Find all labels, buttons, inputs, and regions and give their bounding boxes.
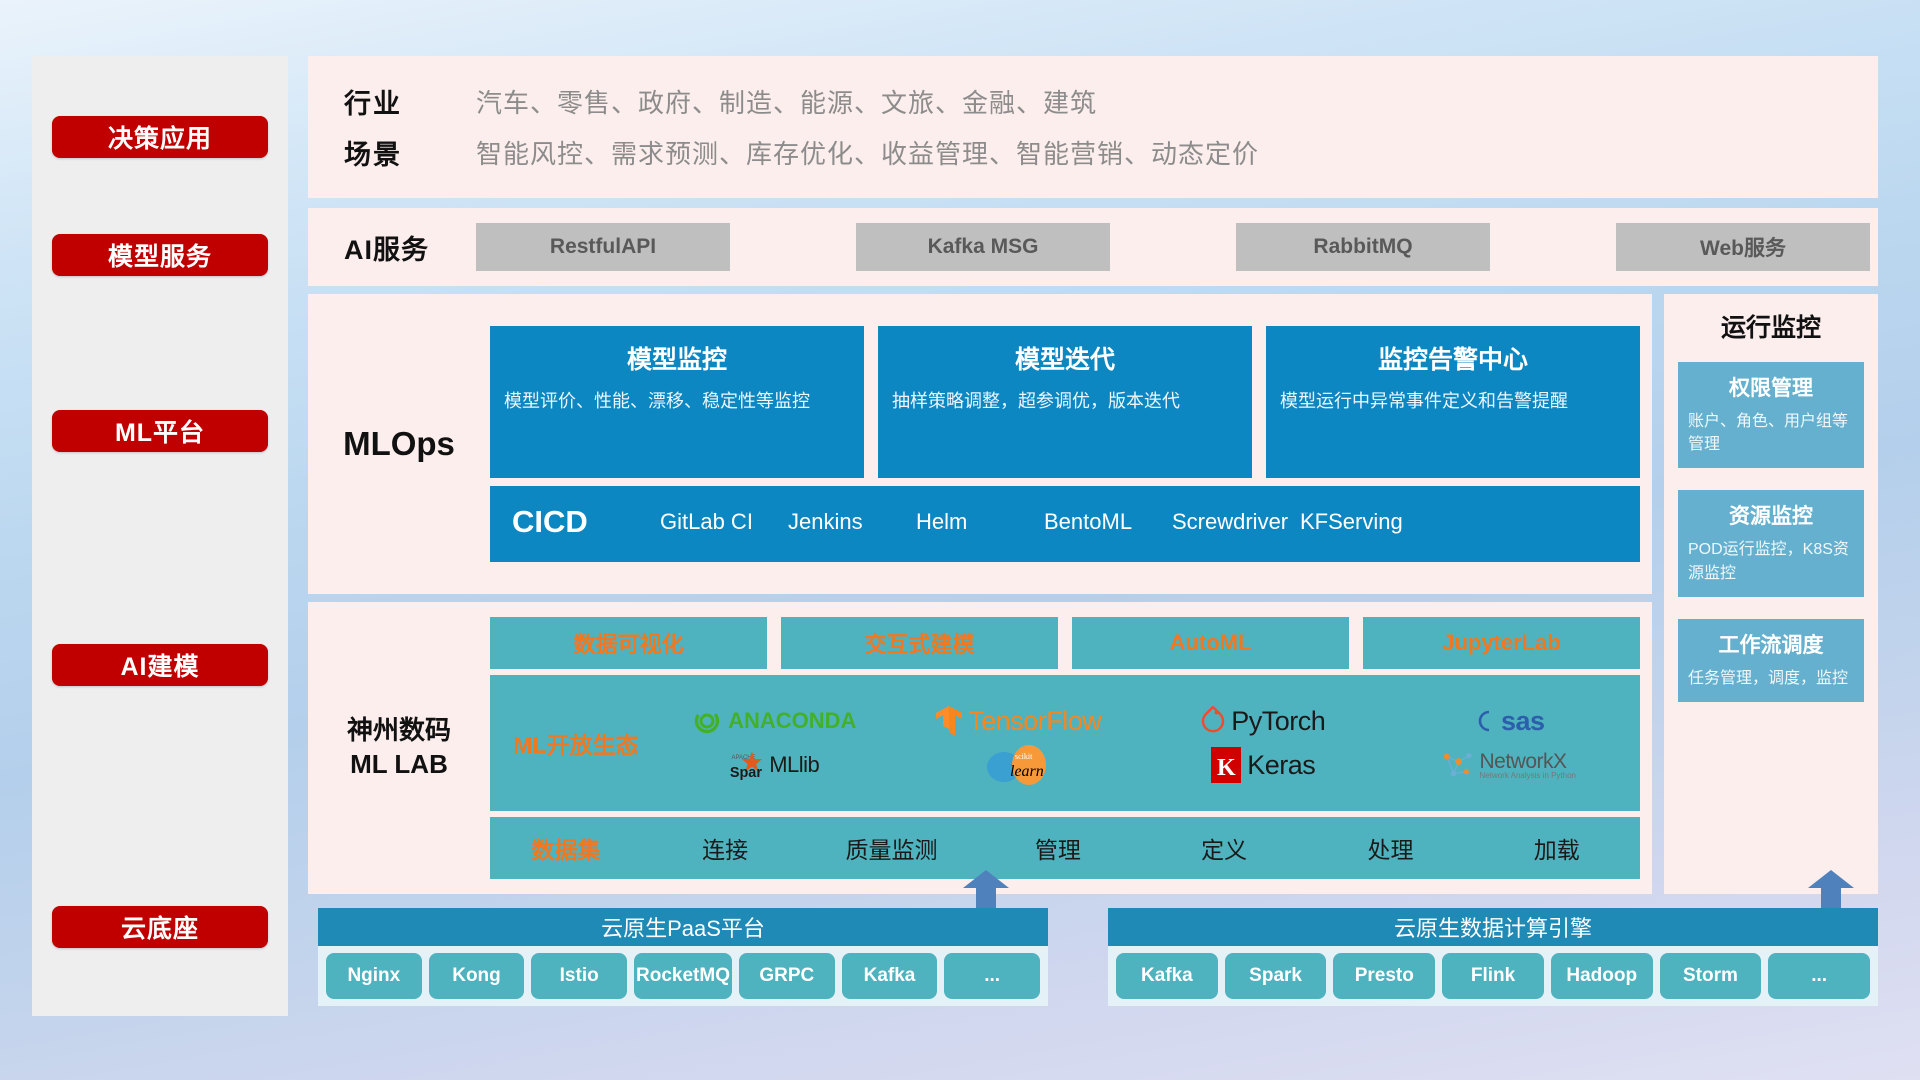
mlops-cards: 模型监控 模型评价、性能、漂移、稳定性等监控 模型迭代 抽样策略调整，超参调优，…: [490, 326, 1640, 478]
keras-icon: K: [1211, 747, 1241, 783]
decision-apps-band: 行业 汽车、零售、政府、制造、能源、文旅、金融、建筑 场景 智能风控、需求预测、…: [308, 56, 1878, 198]
rail-item-label: 云底座: [121, 909, 199, 945]
dataset-items: 连接 质量监测 管理 定义 处理 加载: [642, 831, 1640, 865]
chip-storm[interactable]: Storm: [1660, 953, 1762, 999]
ai-service-rabbitmq[interactable]: RabbitMQ: [1236, 223, 1490, 271]
mlops-card-alert-center[interactable]: 监控告警中心 模型运行中异常事件定义和告警提醒: [1266, 326, 1640, 478]
svg-text:Spark: Spark: [730, 765, 763, 781]
ai-service-restfulapi[interactable]: RestfulAPI: [476, 223, 730, 271]
ml-lab-content: 数据可视化 交互式建模 AutoML JupyterLab ML开放生态 ANA…: [490, 617, 1652, 879]
chip-kafka[interactable]: Kafka: [842, 953, 938, 999]
pytorch-logo: PyTorch: [1201, 706, 1325, 737]
keras-logo-text: Keras: [1247, 750, 1315, 781]
rail-item-cloud-base[interactable]: 云底座: [52, 906, 268, 948]
card-desc: POD运行监控，K8S资源监控: [1688, 538, 1854, 584]
dataset-item-process[interactable]: 处理: [1307, 831, 1473, 865]
chip-nginx[interactable]: Nginx: [326, 953, 422, 999]
ai-service-kafka-msg[interactable]: Kafka MSG: [856, 223, 1110, 271]
monitor-card-workflow[interactable]: 工作流调度 任务管理，调度，监控: [1678, 619, 1864, 702]
chip-rocketmq[interactable]: RocketMQ: [634, 953, 732, 999]
chip-spark[interactable]: Spark: [1225, 953, 1327, 999]
chip-more[interactable]: ...: [1768, 953, 1870, 999]
scenario-value: 智能风控、需求预测、库存优化、收益管理、智能营销、动态定价: [476, 134, 1259, 171]
networkx-logo-text: NetworkX: [1480, 751, 1577, 772]
monitor-card-resource[interactable]: 资源监控 POD运行监控，K8S资源监控: [1678, 490, 1864, 596]
card-title: 监控告警中心: [1280, 340, 1626, 376]
networkx-icon: [1440, 748, 1474, 782]
rail-item-label: 决策应用: [108, 119, 212, 155]
dataset-label: 数据集: [490, 831, 642, 865]
rail-item-ml-platform[interactable]: ML平台: [52, 410, 268, 452]
scenario-row: 场景 智能风控、需求预测、库存优化、收益管理、智能营销、动态定价: [344, 133, 1878, 172]
mlops-card-model-monitoring[interactable]: 模型监控 模型评价、性能、漂移、稳定性等监控: [490, 326, 864, 478]
chip-presto[interactable]: Presto: [1333, 953, 1435, 999]
scenario-key: 场景: [344, 133, 476, 172]
cloud-native-paas-title: 云原生PaaS平台: [318, 908, 1048, 946]
card-desc: 任务管理，调度，监控: [1688, 667, 1854, 690]
cicd-item-gitlab-ci[interactable]: GitLab CI: [660, 507, 788, 537]
pytorch-logo-text: PyTorch: [1231, 706, 1325, 737]
cloud-base-section: 云原生PaaS平台 Nginx Kong Istio RocketMQ GRPC…: [308, 888, 1878, 1048]
runtime-monitor-title: 运行监控: [1678, 308, 1864, 344]
chip-istio[interactable]: Istio: [531, 953, 627, 999]
keras-logo: K Keras: [1211, 747, 1315, 783]
chip-hadoop[interactable]: Hadoop: [1551, 953, 1653, 999]
spark-mllib-logo-text: MLlib: [769, 752, 819, 778]
chip-grpc[interactable]: GRPC: [739, 953, 835, 999]
chip-kafka[interactable]: Kafka: [1116, 953, 1218, 999]
ml-open-ecosystem-row: ML开放生态 ANACONDA Tens: [490, 675, 1640, 811]
tensorflow-icon: [936, 705, 962, 737]
card-title: 权限管理: [1688, 372, 1854, 402]
tab-jupyterlab[interactable]: JupyterLab: [1363, 617, 1640, 669]
rail-item-label: ML平台: [115, 413, 205, 449]
tensorflow-logo: TensorFlow: [936, 705, 1101, 737]
tab-interactive-modeling[interactable]: 交互式建模: [781, 617, 1058, 669]
cicd-item-helm[interactable]: Helm: [916, 507, 1044, 537]
anaconda-logo-text: ANACONDA: [728, 708, 856, 734]
scikit-learn-icon: scikit learn: [982, 743, 1056, 787]
cicd-item-kfserving[interactable]: KFServing: [1300, 507, 1428, 537]
card-desc: 抽样策略调整，超参调优，版本迭代: [892, 388, 1238, 414]
mlops-band: MLOps 模型监控 模型评价、性能、漂移、稳定性等监控 模型迭代 抽样策略调整…: [308, 294, 1652, 594]
ai-service-items: RestfulAPI Kafka MSG RabbitMQ Web服务: [476, 223, 1878, 271]
ml-lab-key: 神州数码 ML LAB: [308, 714, 490, 782]
cloud-native-paas-block: 云原生PaaS平台 Nginx Kong Istio RocketMQ GRPC…: [318, 908, 1048, 1006]
card-desc: 模型运行中异常事件定义和告警提醒: [1280, 388, 1626, 414]
ai-service-web[interactable]: Web服务: [1616, 223, 1870, 271]
cicd-bar: CICD GitLab CI Jenkins Helm BentoML Scre…: [490, 486, 1640, 562]
cicd-title: CICD: [512, 504, 660, 540]
sas-logo-text: sas: [1501, 706, 1545, 737]
dataset-item-quality-monitor[interactable]: 质量监测: [808, 831, 974, 865]
card-title: 模型监控: [504, 340, 850, 376]
ml-lab-band: 神州数码 ML LAB 数据可视化 交互式建模 AutoML JupyterLa…: [308, 602, 1652, 894]
layer-rail: 决策应用 模型服务 ML平台 AI建模 云底座: [32, 56, 288, 1016]
ml-lab-key-line2: ML LAB: [308, 748, 490, 782]
ml-open-ecosystem-label: ML开放生态: [500, 726, 652, 760]
cloud-native-paas-chips: Nginx Kong Istio RocketMQ GRPC Kafka ...: [318, 946, 1048, 1006]
tab-data-visualization[interactable]: 数据可视化: [490, 617, 767, 669]
dataset-item-connect[interactable]: 连接: [642, 831, 808, 865]
rail-item-decision-apps[interactable]: 决策应用: [52, 116, 268, 158]
cicd-item-bentoml[interactable]: BentoML: [1044, 507, 1172, 537]
anaconda-icon: [692, 706, 722, 736]
dataset-row: 数据集 连接 质量监测 管理 定义 处理 加载: [490, 817, 1640, 879]
rail-item-label: AI建模: [120, 647, 199, 683]
card-title: 工作流调度: [1688, 629, 1854, 659]
cloud-native-compute-chips: Kafka Spark Presto Flink Hadoop Storm ..…: [1108, 946, 1878, 1006]
spark-mllib-logo: APACHE Spark MLlib: [729, 748, 819, 782]
mlops-card-model-iteration[interactable]: 模型迭代 抽样策略调整，超参调优，版本迭代: [878, 326, 1252, 478]
card-desc: 账户、角色、用户组等管理: [1688, 410, 1854, 456]
cloud-native-compute-block: 云原生数据计算引擎 Kafka Spark Presto Flink Hadoo…: [1108, 908, 1878, 1006]
ecosystem-logos: ANACONDA TensorFlow: [652, 699, 1630, 787]
card-title: 资源监控: [1688, 500, 1854, 530]
industry-key: 行业: [344, 82, 476, 121]
industry-row: 行业 汽车、零售、政府、制造、能源、文旅、金融、建筑: [344, 82, 1878, 121]
card-desc: 模型评价、性能、漂移、稳定性等监控: [504, 388, 850, 414]
card-title: 模型迭代: [892, 340, 1238, 376]
networkx-tagline: Network Analysis in Python: [1480, 772, 1577, 780]
architecture-main: 行业 汽车、零售、政府、制造、能源、文旅、金融、建筑 场景 智能风控、需求预测、…: [308, 56, 1878, 1016]
chip-kong[interactable]: Kong: [429, 953, 525, 999]
mlops-key: MLOps: [308, 425, 490, 463]
rail-item-model-service[interactable]: 模型服务: [52, 234, 268, 276]
dataset-item-define[interactable]: 定义: [1141, 831, 1307, 865]
sas-logo: sas: [1471, 706, 1545, 737]
industry-value: 汽车、零售、政府、制造、能源、文旅、金融、建筑: [476, 83, 1097, 120]
chip-flink[interactable]: Flink: [1442, 953, 1544, 999]
anaconda-logo: ANACONDA: [692, 706, 856, 736]
svg-text:learn: learn: [1010, 763, 1044, 780]
spark-icon: APACHE Spark: [729, 748, 763, 782]
cicd-item-screwdriver[interactable]: Screwdriver: [1172, 507, 1300, 537]
ai-service-band: AI服务 RestfulAPI Kafka MSG RabbitMQ Web服务: [308, 208, 1878, 286]
tab-automl[interactable]: AutoML: [1072, 617, 1349, 669]
runtime-monitor-band: 运行监控 权限管理 账户、角色、用户组等管理 资源监控 POD运行监控，K8S资…: [1664, 294, 1878, 894]
sas-icon: [1471, 707, 1495, 735]
ml-lab-key-line1: 神州数码: [308, 714, 490, 748]
svg-text:scikit: scikit: [1015, 752, 1033, 761]
chip-more[interactable]: ...: [944, 953, 1040, 999]
ai-service-key: AI服务: [344, 228, 476, 267]
cicd-item-jenkins[interactable]: Jenkins: [788, 507, 916, 537]
rail-item-label: 模型服务: [108, 237, 212, 273]
pytorch-icon: [1201, 706, 1225, 736]
scikit-learn-logo: scikit learn: [982, 743, 1056, 787]
dataset-item-load[interactable]: 加载: [1474, 831, 1640, 865]
tensorflow-logo-text: TensorFlow: [968, 706, 1101, 737]
rail-item-ai-modeling[interactable]: AI建模: [52, 644, 268, 686]
networkx-logo: NetworkX Network Analysis in Python: [1440, 748, 1577, 782]
mlops-content: 模型监控 模型评价、性能、漂移、稳定性等监控 模型迭代 抽样策略调整，超参调优，…: [490, 326, 1652, 562]
cloud-native-compute-title: 云原生数据计算引擎: [1108, 908, 1878, 946]
svg-text:K: K: [1217, 755, 1236, 781]
monitor-card-permission[interactable]: 权限管理 账户、角色、用户组等管理: [1678, 362, 1864, 468]
dataset-item-manage[interactable]: 管理: [975, 831, 1141, 865]
ml-lab-tabs: 数据可视化 交互式建模 AutoML JupyterLab: [490, 617, 1640, 669]
